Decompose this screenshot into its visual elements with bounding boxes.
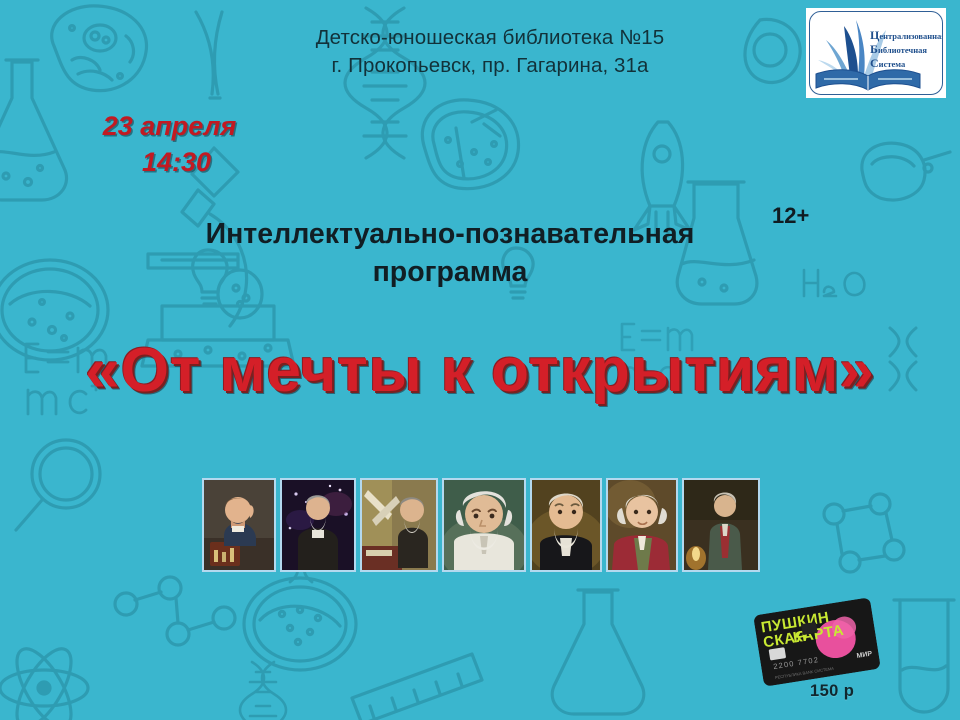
- portrait-scientist-1: [202, 478, 276, 572]
- library-header: Детско-юношеская библиотека №15 г. Проко…: [180, 24, 800, 81]
- pushkin-card-image: ПУШКИН СКАЯ КАРТА 2200 7702 РЕСПУБЛИКА B…: [753, 597, 881, 687]
- portrait-scientist-6: [606, 478, 678, 572]
- event-time: 14:30: [62, 144, 277, 180]
- portrait-scientist-2: [280, 478, 356, 572]
- program-subtitle-line-1: Интеллектуально-познавательная: [150, 216, 750, 254]
- library-logo: Централизованная Библиотечная Система: [806, 8, 946, 98]
- library-name: Детско-юношеская библиотека №15: [180, 24, 800, 52]
- card-price: 150 р: [810, 682, 854, 701]
- logo-caption: Централизованная Библиотечная Система: [870, 28, 943, 70]
- portrait-scientist-4: [442, 478, 526, 572]
- portrait-scientist-5: [530, 478, 602, 572]
- logo-line-2: Библиотечная: [870, 42, 943, 56]
- program-subtitle: Интеллектуально-познавательная программа: [150, 216, 750, 292]
- event-datetime: 23 апреля 14:30: [62, 108, 277, 180]
- event-date: 23 апреля: [62, 108, 277, 144]
- event-title: «От мечты к открытиям»: [0, 340, 960, 402]
- scientist-portrait-strip: [202, 478, 760, 572]
- portrait-scientist-3: [360, 478, 438, 572]
- logo-line-1: Централизованная: [870, 28, 943, 42]
- library-address: г. Прокопьевск, пр. Гагарина, 31а: [180, 52, 800, 80]
- portrait-scientist-7: [682, 478, 760, 572]
- logo-line-3: Система: [870, 56, 943, 70]
- program-subtitle-line-2: программа: [150, 254, 750, 292]
- pushkin-card-block: ПУШКИН СКАЯ КАРТА 2200 7702 РЕСПУБЛИКА B…: [758, 606, 888, 714]
- age-rating-badge: 12+: [772, 203, 809, 229]
- poster-canvas: Детско-юношеская библиотека №15 г. Проко…: [0, 0, 960, 720]
